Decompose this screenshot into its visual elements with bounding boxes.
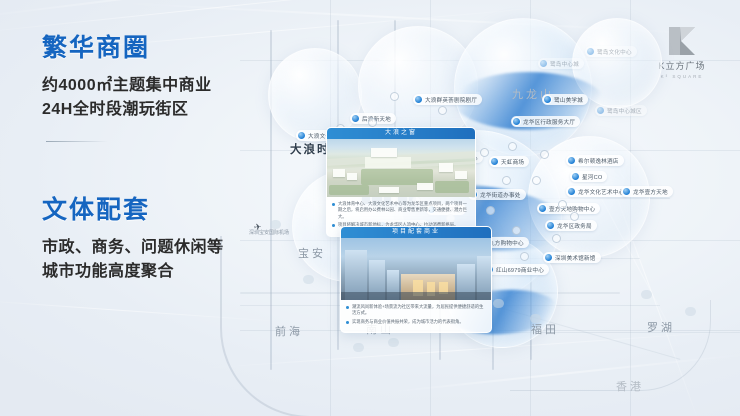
- ring-marker-icon: [508, 142, 517, 151]
- poi-dot-icon: [547, 222, 554, 229]
- poi-dot-icon: [298, 132, 305, 139]
- divider-line: [46, 141, 108, 142]
- ring-marker-icon: [502, 176, 511, 185]
- poi-dot-icon: [545, 254, 552, 261]
- subtext-culture-line1: 市政、商务、问题休闲等: [42, 239, 224, 256]
- district-label: 香港: [616, 378, 644, 394]
- district-label: 前海: [275, 323, 303, 339]
- ring-marker-icon: [368, 118, 377, 127]
- ring-marker-icon: [540, 150, 549, 159]
- poi-chip[interactable]: 天虹商场: [489, 156, 529, 167]
- poi-chip[interactable]: 鹭山美学城: [542, 94, 588, 105]
- poi-dot-icon: [572, 173, 579, 180]
- district-label: 宝安: [298, 245, 326, 261]
- poi-chip[interactable]: 龙华区行政服务大厅: [511, 116, 580, 127]
- poi-dot-icon: [540, 60, 547, 67]
- metro-station-marker: [530, 314, 541, 323]
- poi-chip[interactable]: 红山6979商业中心: [484, 264, 549, 275]
- poi-label: 鹭岛中心城: [550, 60, 579, 68]
- info-card-retail-body: 潮流风尚新体验+场景流为社区带来大流量，为居民提供便捷舒适的生活方式。 实现商务…: [341, 300, 491, 332]
- ring-marker-icon: [438, 106, 447, 115]
- poi-label: 鹭岛文化中心: [597, 48, 632, 56]
- info-card-retail[interactable]: 项目配套商业 潮流风尚新体验+场景流为社区带来大流量，为居民提供便捷舒适的生活方…: [340, 226, 492, 333]
- ring-marker-icon: [552, 234, 561, 243]
- poi-label: 星河CO: [582, 173, 602, 181]
- poi-label: 龙华区政务局: [557, 222, 592, 230]
- poi-chip[interactable]: 希尔顿逸林酒店: [566, 155, 624, 166]
- poi-chip[interactable]: 鹭岛文化中心: [585, 46, 637, 57]
- metro-station-marker: [641, 290, 652, 299]
- subtext-commercial-line2: 24H全时段潮玩街区: [42, 101, 188, 118]
- slide-canvas: 繁华商圈 约4000㎡主题集中商业 24H全时段潮玩街区 文体配套 市政、商务、…: [0, 0, 740, 416]
- poi-dot-icon: [513, 118, 520, 125]
- bullet-dot-icon: [332, 224, 335, 227]
- metro-station-marker: [303, 275, 314, 284]
- district-label: 福田: [531, 321, 559, 337]
- ring-marker-icon: [520, 252, 529, 261]
- ring-marker-icon: [570, 212, 579, 221]
- poi-chip[interactable]: 深圳美术馆新馆: [543, 252, 601, 263]
- poi-label: 龙华文化艺术中心: [578, 188, 624, 196]
- info-card-daliang[interactable]: 大浪之窗 大浪体育中心、大浪文化艺术中心等为龙华区重点项目，两个项目一期之后，将…: [326, 127, 476, 237]
- ring-marker-icon: [532, 176, 541, 185]
- poi-chip[interactable]: 壹方天地购物中心: [537, 203, 600, 214]
- poi-dot-icon: [539, 205, 546, 212]
- metro-station-marker: [493, 299, 504, 308]
- poi-label: 天虹商场: [501, 158, 524, 166]
- metro-station-marker: [388, 338, 399, 347]
- poi-label: 大浪群英荟剧院剧厅: [425, 96, 477, 104]
- poi-label: 红山6979商业中心: [496, 266, 544, 274]
- airport-label: 深圳宝安国际机场: [242, 230, 296, 238]
- card-bullet-text: 大浪体育中心、大浪文化艺术中心等为龙华区重点项目，两个项目一期之后，将启用办公费…: [338, 201, 470, 220]
- card-bullet: 大浪体育中心、大浪文化艺术中心等为龙华区重点项目，两个项目一期之后，将启用办公费…: [332, 201, 470, 220]
- card-bullet-text: 实现商务与商业价值共振共荣，成为城市活力的代表街角。: [352, 319, 464, 325]
- poi-dot-icon: [597, 107, 604, 114]
- street-view-photo: [341, 238, 491, 300]
- bullet-dot-icon: [346, 306, 349, 309]
- ring-marker-icon: [480, 148, 489, 157]
- poi-chip[interactable]: 龙华街道办事处: [468, 189, 526, 200]
- poi-chip[interactable]: 龙华文化艺术中心: [566, 186, 629, 197]
- metro-station-marker: [270, 220, 281, 229]
- poi-label: 希尔顿逸林酒店: [578, 157, 619, 165]
- ring-marker-icon: [512, 226, 521, 235]
- poi-label: 龙华区行政服务大厅: [523, 118, 575, 126]
- card-bullet: 潮流风尚新体验+场景流为社区带来大流量，为居民提供便捷舒适的生活方式。: [346, 304, 486, 317]
- poi-label: 九方购物中心: [489, 239, 524, 247]
- poi-chip[interactable]: 龙华壹方天地: [621, 186, 673, 197]
- city-map[interactable]: ✈ 深圳宝安国际机场 K立方广场 宝安前海南山福田罗湖香港九龙山: [240, 0, 740, 416]
- poi-chip[interactable]: 龙华区政务局: [545, 220, 597, 231]
- metro-station-marker: [685, 307, 696, 316]
- poi-label: 深圳美术馆新馆: [555, 254, 596, 262]
- poi-label: 鹭岛中心城区: [607, 107, 642, 115]
- poi-label: 龙华壹方天地: [633, 188, 668, 196]
- poi-dot-icon: [568, 157, 575, 164]
- info-card-daliang-title: 大浪之窗: [327, 128, 475, 139]
- poi-dot-icon: [491, 158, 498, 165]
- poi-dot-icon: [352, 115, 359, 122]
- poi-dot-icon: [544, 96, 551, 103]
- poi-label: 鹭山美学城: [554, 96, 583, 104]
- poi-dot-icon: [415, 96, 422, 103]
- bullet-dot-icon: [332, 203, 335, 206]
- poi-dot-icon: [587, 48, 594, 55]
- subtext-commercial-line1: 约4000㎡主题集中商业: [42, 77, 212, 94]
- poi-dot-icon: [623, 188, 630, 195]
- ring-marker-icon: [390, 92, 399, 101]
- poi-label: 龙华街道办事处: [480, 191, 521, 199]
- metro-station-marker: [353, 343, 364, 352]
- card-bullet-text: 潮流风尚新体验+场景流为社区带来大流量，为居民提供便捷舒适的生活方式。: [352, 304, 486, 317]
- ring-marker-icon: [486, 206, 495, 215]
- aerial-view-photo: [327, 139, 475, 197]
- subtext-culture-line2: 城市功能高度聚合: [42, 263, 174, 280]
- poi-chip[interactable]: 鹭岛中心城区: [595, 105, 647, 116]
- poi-dot-icon: [568, 188, 575, 195]
- poi-chip[interactable]: 鹭岛中心城: [538, 58, 584, 69]
- ring-marker-icon: [558, 200, 567, 209]
- poi-chip[interactable]: 星河CO: [570, 171, 607, 182]
- card-bullet: 实现商务与商业价值共振共荣，成为城市活力的代表街角。: [346, 319, 486, 325]
- district-label: 罗湖: [647, 319, 675, 335]
- poi-chip[interactable]: 大浪群英荟剧院剧厅: [413, 94, 482, 105]
- info-card-retail-title: 项目配套商业: [341, 227, 491, 238]
- bullet-dot-icon: [346, 321, 349, 324]
